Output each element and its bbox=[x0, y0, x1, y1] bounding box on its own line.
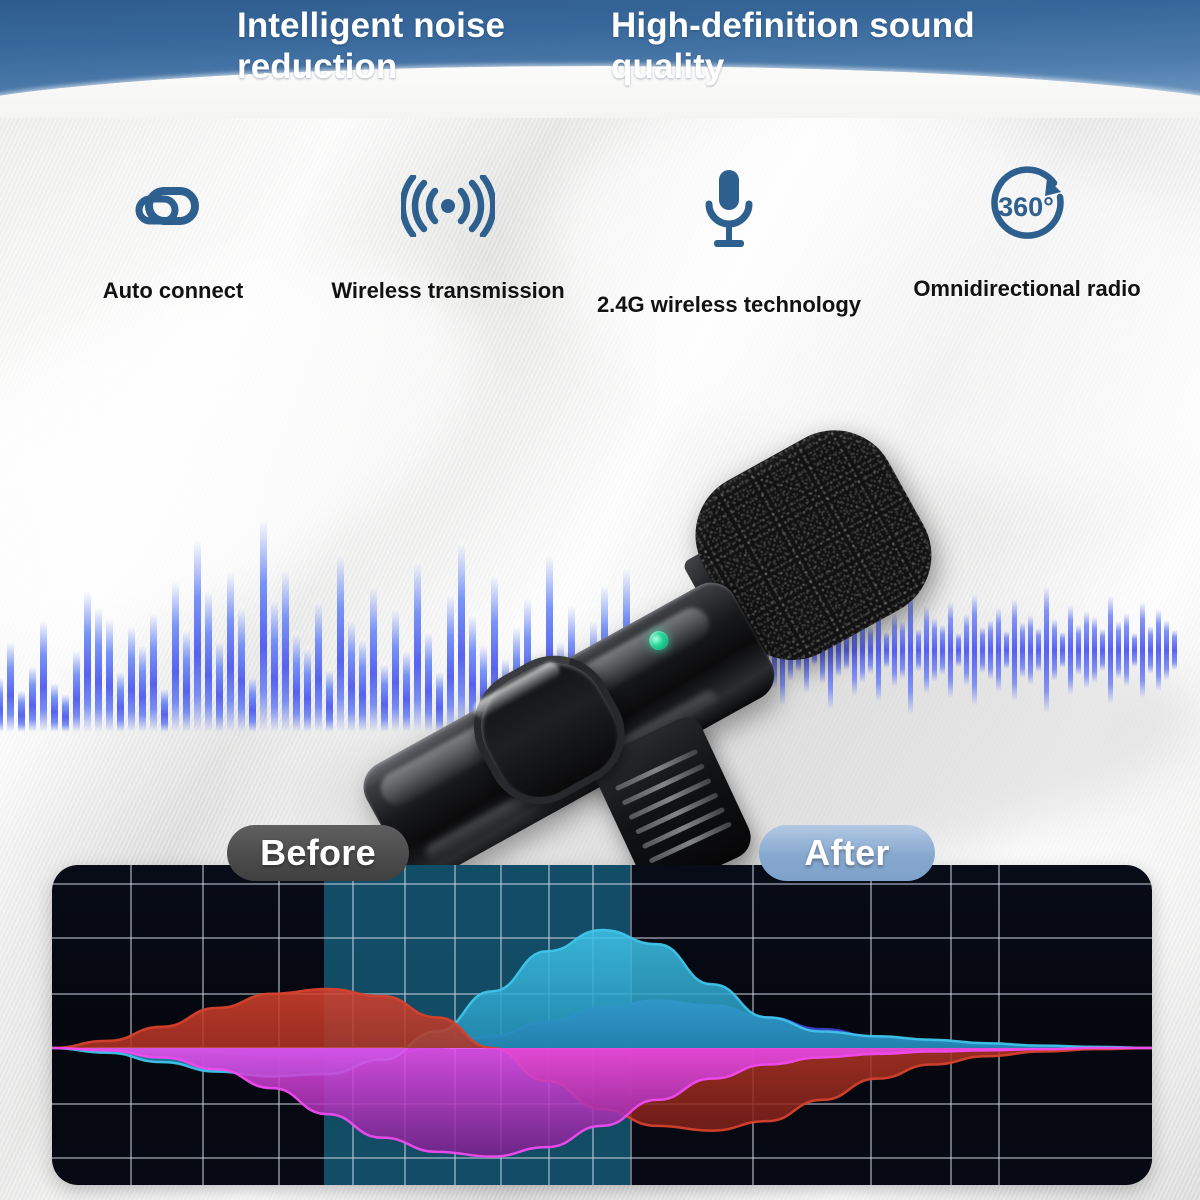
waveform-bar bbox=[1172, 630, 1177, 670]
waveform-bar bbox=[1116, 621, 1121, 679]
waveform-bar bbox=[183, 624, 190, 732]
waveform-bar bbox=[1068, 605, 1073, 695]
noise-comparison-chart bbox=[52, 865, 1152, 1185]
waveform-bar bbox=[1108, 596, 1113, 704]
feature-auto-connect: Auto connect bbox=[28, 158, 318, 304]
waveform-bar bbox=[18, 688, 25, 732]
waveform-bar bbox=[1100, 629, 1105, 671]
waveform-bar bbox=[62, 692, 69, 732]
waveform-bar bbox=[1012, 599, 1017, 701]
waveform-bar bbox=[1156, 609, 1161, 691]
waveform-bar bbox=[1020, 622, 1025, 678]
waveform-bar bbox=[106, 612, 113, 732]
feature-omnidirectional-radio: 360° Omnidirectional radio bbox=[872, 158, 1182, 302]
feature-label: Wireless transmission bbox=[300, 278, 596, 304]
waveform-bar bbox=[249, 674, 256, 732]
feature-24g-wireless: 2.4G wireless technology bbox=[590, 162, 868, 318]
waveform-bar bbox=[1140, 602, 1145, 698]
waveform-bar bbox=[227, 562, 234, 732]
before-label-pill: Before bbox=[227, 825, 409, 881]
waveform-bar bbox=[216, 636, 223, 732]
waveform-bar bbox=[1004, 631, 1009, 669]
waveform-bar bbox=[29, 662, 36, 732]
header-title-right: High-definition sound quality bbox=[611, 5, 1011, 87]
waveform-bar bbox=[1132, 633, 1137, 667]
waveform-bar bbox=[1164, 620, 1169, 680]
wireless-signal-icon bbox=[300, 158, 596, 254]
microphone-icon bbox=[590, 162, 868, 258]
product-image-microphone bbox=[322, 425, 942, 845]
waveform-bar bbox=[1052, 619, 1057, 681]
waveform-bar bbox=[1036, 628, 1041, 672]
waveform-bar bbox=[1148, 626, 1153, 674]
feature-label: Auto connect bbox=[28, 278, 318, 304]
360-degree-rotation-icon: 360° bbox=[872, 158, 1182, 254]
chart-area-magenta-wave bbox=[52, 1048, 1152, 1157]
product-marketing-page: Intelligent noise reduction High-definit… bbox=[0, 0, 1200, 1200]
feature-label: Omnidirectional radio bbox=[872, 276, 1182, 302]
waveform-bar bbox=[1124, 613, 1129, 687]
feature-list: Auto connect Wireless transmission bbox=[0, 140, 1200, 315]
waveform-bar bbox=[51, 680, 58, 732]
header-banner: Intelligent noise reduction High-definit… bbox=[0, 0, 1200, 118]
waveform-bar bbox=[1044, 587, 1049, 713]
waveform-bar bbox=[73, 646, 80, 732]
waveform-bar bbox=[40, 614, 47, 732]
waveform-bar bbox=[238, 600, 245, 732]
waveform-bar bbox=[95, 600, 102, 732]
waveform-bar bbox=[7, 636, 14, 732]
waveform-bar bbox=[1092, 617, 1097, 683]
waveform-bar bbox=[1028, 615, 1033, 685]
after-label-pill: After bbox=[759, 825, 935, 881]
waveform-bar bbox=[128, 620, 135, 732]
waveform-bar bbox=[150, 606, 157, 732]
waveform-bar bbox=[1084, 611, 1089, 689]
waveform-bar bbox=[996, 608, 1001, 692]
feature-wireless-transmission: Wireless transmission bbox=[300, 158, 596, 304]
comparison-panel bbox=[52, 865, 1152, 1185]
feature-label: 2.4G wireless technology bbox=[590, 292, 868, 318]
waveform-bar bbox=[0, 674, 3, 732]
header-title-left: Intelligent noise reduction bbox=[237, 5, 567, 87]
waveform-bar bbox=[172, 572, 179, 732]
360-badge-text: 360° bbox=[998, 192, 1054, 222]
waveform-bar bbox=[205, 582, 212, 732]
waveform-bar bbox=[194, 528, 201, 732]
waveform-bar bbox=[1060, 632, 1065, 668]
waveform-bar bbox=[139, 640, 146, 732]
chain-link-icon bbox=[28, 158, 318, 254]
waveform-bar bbox=[117, 668, 124, 732]
waveform-bar bbox=[161, 686, 168, 732]
waveform-bar bbox=[84, 582, 91, 732]
waveform-bar bbox=[1076, 625, 1081, 675]
